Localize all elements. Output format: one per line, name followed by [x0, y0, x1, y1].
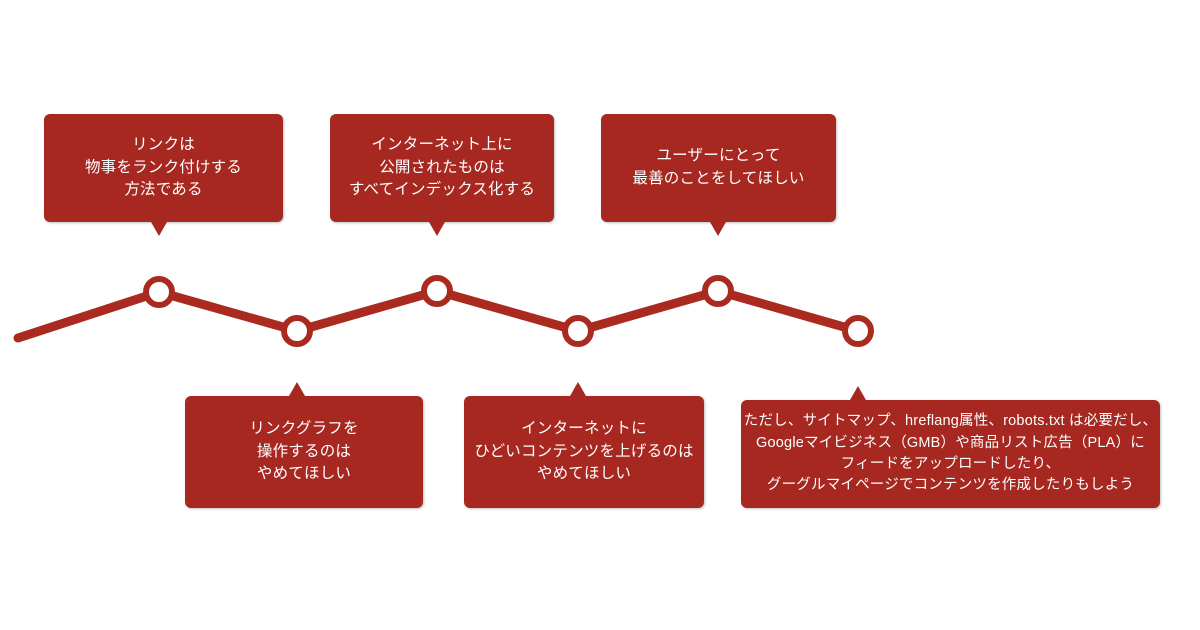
callout-top-3-tail [710, 222, 726, 236]
callout-top-3-text: ユーザーにとって 最善のことをしてほしい [601, 145, 836, 191]
zigzag-node-4[interactable] [565, 318, 591, 344]
callout-top-2-text: インターネット上に 公開されたものは すべてインデックス化する [330, 134, 554, 203]
callout-top-2[interactable]: インターネット上に 公開されたものは すべてインデックス化する [330, 114, 554, 222]
callout-bottom-3[interactable]: ただし、サイトマップ、hreflang属性、robots.txt は必要だし、 … [741, 400, 1160, 508]
callout-top-1[interactable]: リンクは 物事をランク付けする 方法である [44, 114, 283, 222]
callout-top-1-tail [151, 222, 167, 236]
callout-bottom-2-text: インターネットに ひどいコンテンツを上げるのは やめてほしい [464, 418, 704, 487]
diagram-canvas: リンクは 物事をランク付けする 方法である インターネット上に 公開されたものは… [0, 0, 1200, 630]
zigzag-node-6[interactable] [845, 318, 871, 344]
callout-bottom-1-tail [289, 382, 305, 396]
zigzag-node-5[interactable] [705, 278, 731, 304]
callout-bottom-2-tail [570, 382, 586, 396]
callout-bottom-1[interactable]: リンクグラフを 操作するのは やめてほしい [185, 396, 423, 508]
callout-top-2-tail [429, 222, 445, 236]
callout-bottom-2[interactable]: インターネットに ひどいコンテンツを上げるのは やめてほしい [464, 396, 704, 508]
zigzag-node-3[interactable] [424, 278, 450, 304]
callout-bottom-3-text: ただし、サイトマップ、hreflang属性、robots.txt は必要だし、 … [741, 411, 1160, 497]
callout-top-1-text: リンクは 物事をランク付けする 方法である [44, 134, 283, 203]
callout-bottom-1-text: リンクグラフを 操作するのは やめてほしい [185, 418, 423, 487]
zigzag-timeline [0, 0, 1200, 630]
zigzag-node-1[interactable] [146, 279, 172, 305]
callout-top-3[interactable]: ユーザーにとって 最善のことをしてほしい [601, 114, 836, 222]
zigzag-node-2[interactable] [284, 318, 310, 344]
callout-bottom-3-tail [850, 386, 866, 400]
